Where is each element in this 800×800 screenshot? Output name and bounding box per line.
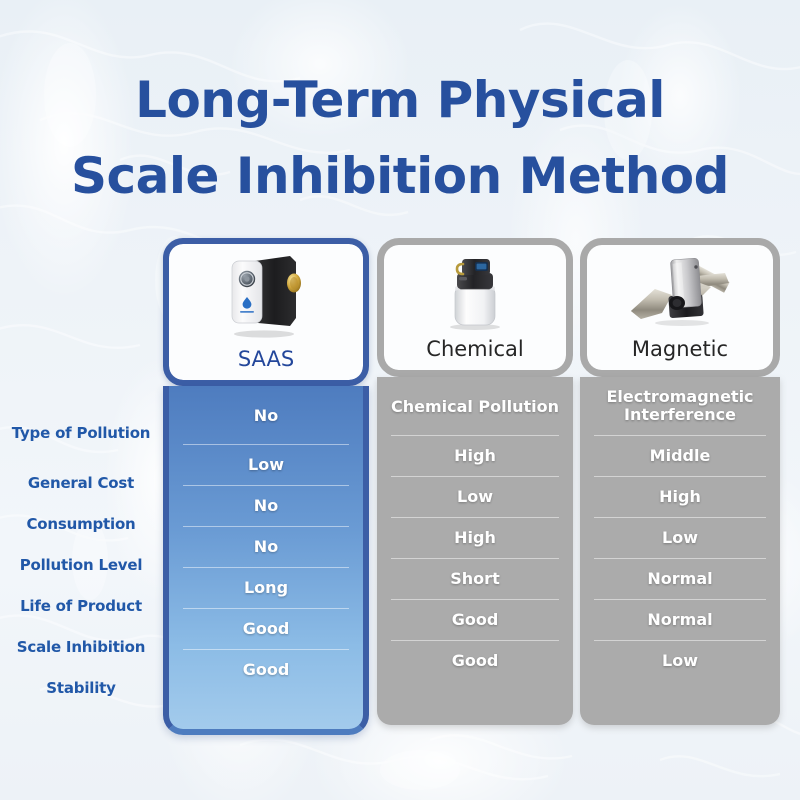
saas-water-descaler-device-icon [169, 244, 363, 342]
row-label-pollution-level: Pollution Level [0, 544, 162, 585]
column-header-inner-chemical: Chemical [384, 245, 566, 370]
cell-magnetic-type-of-pollution: Electromagnetic Interference [580, 377, 780, 435]
row-label-column: Type of Pollution General Cost Consumpti… [0, 404, 162, 708]
cell-chemical-scale-inhibition: Good [377, 599, 573, 640]
column-header-card-magnetic: Magnetic [580, 238, 780, 377]
row-label-consumption: Consumption [0, 503, 162, 544]
column-body-chemical: Chemical Pollution High Low High Short G… [377, 377, 573, 725]
column-label-magnetic: Magnetic [632, 332, 728, 370]
row-label-life-of-product: Life of Product [0, 585, 162, 626]
cell-chemical-life-of-product: Short [377, 558, 573, 599]
cell-magnetic-scale-inhibition: Normal [580, 599, 780, 640]
cell-magnetic-life-of-product: Normal [580, 558, 780, 599]
cell-magnetic-consumption: High [580, 476, 780, 517]
cell-chemical-consumption: Low [377, 476, 573, 517]
cell-chemical-stability: Good [377, 640, 573, 681]
column-body-magnetic: Electromagnetic Interference Middle High… [580, 377, 780, 725]
row-label-type-of-pollution: Type of Pollution [0, 404, 162, 462]
cell-magnetic-pollution-level: Low [580, 517, 780, 558]
column-header-inner-saas: SAAS [169, 244, 363, 380]
row-label-scale-inhibition: Scale Inhibition [0, 626, 162, 667]
cell-saas-scale-inhibition: Good [169, 608, 363, 649]
cell-chemical-general-cost: High [377, 435, 573, 476]
cell-saas-life-of-product: Long [169, 567, 363, 608]
cell-saas-consumption: No [169, 485, 363, 526]
cell-saas-type-of-pollution: No [169, 386, 363, 444]
cell-magnetic-general-cost: Middle [580, 435, 780, 476]
column-label-chemical: Chemical [426, 332, 523, 370]
cell-magnetic-stability: Low [580, 640, 780, 681]
cell-saas-stability: Good [169, 649, 363, 690]
row-label-stability: Stability [0, 667, 162, 708]
cell-saas-pollution-level: No [169, 526, 363, 567]
column-body-saas: No Low No No Long Good Good [163, 386, 369, 735]
magnetic-pipe-clamp-device-icon [587, 245, 773, 332]
column-header-card-saas: SAAS [163, 238, 369, 386]
cell-chemical-type-of-pollution: Chemical Pollution [377, 377, 573, 435]
column-label-saas: SAAS [238, 342, 294, 380]
column-header-card-chemical: Chemical [377, 238, 573, 377]
row-label-general-cost: General Cost [0, 462, 162, 503]
comparison-table: Type of Pollution General Cost Consumpti… [0, 0, 800, 800]
chemical-water-softener-tank-icon [384, 245, 566, 332]
cell-saas-general-cost: Low [169, 444, 363, 485]
column-header-inner-magnetic: Magnetic [587, 245, 773, 370]
cell-chemical-pollution-level: High [377, 517, 573, 558]
